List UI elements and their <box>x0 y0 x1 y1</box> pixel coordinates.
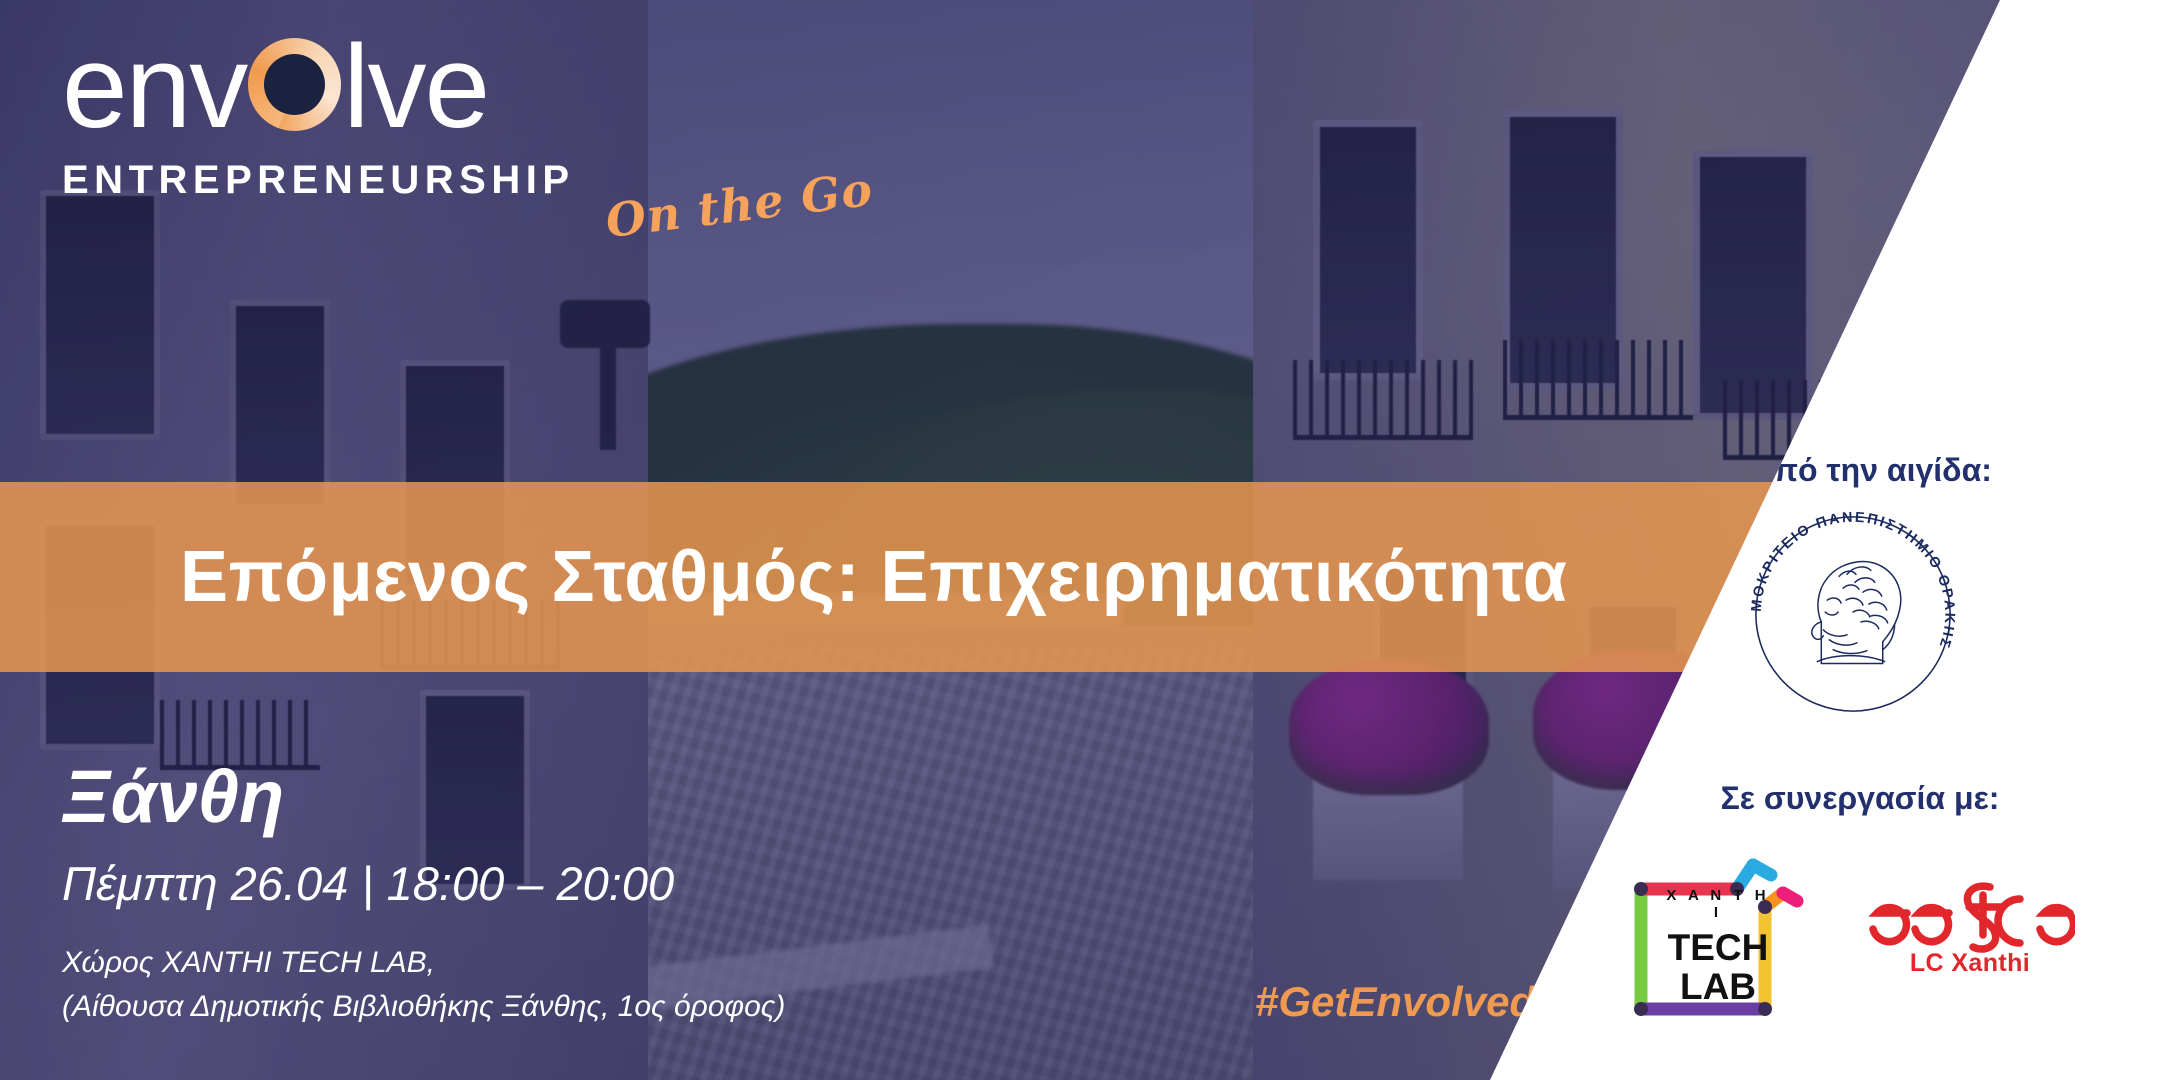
event-venue: Χώρος XANTHI TECH LAB, (Αίθουσα Δημοτική… <box>62 941 785 1028</box>
xanthi-tech-lab-logo: X A N T H I TECH LAB <box>1625 845 1811 1031</box>
tech-lab-line-2: TECH <box>1659 929 1777 968</box>
event-banner: env lve ENTREPRENEURSHIP On the Go Επόμε… <box>0 0 2160 1080</box>
headline-band: Επόμενος Σταθμός: Επιχειρηματικότητα <box>0 482 1800 672</box>
event-details: Ξάνθη Πέμπτη 26.04 | 18:00 – 20:00 Χώρος… <box>62 760 785 1028</box>
tech-lab-line-3: LAB <box>1659 968 1777 1007</box>
envolve-wordmark: env lve <box>62 28 873 146</box>
university-seal-icon: ΔΗΜΟΚΡΙΤΕΙΟ ΠΑΝΕΠΙΣΤΗΜΙΟ ΘΡΑΚΗΣ <box>1744 505 1962 723</box>
page-title: Επόμενος Σταθμός: Επιχειρηματικότητα <box>180 536 1568 618</box>
envolve-logo: env lve ENTREPRENEURSHIP On the Go <box>62 28 873 232</box>
partner-label: Σε συνεργασία με: <box>1600 780 2120 817</box>
entrepreneurship-label: ENTREPRENEURSHIP <box>62 158 575 203</box>
svg-text:ΔΗΜΟΚΡΙΤΕΙΟ ΠΑΝΕΠΙΣΤΗΜΙΟ ΘΡΑΚΗ: ΔΗΜΟΚΡΙΤΕΙΟ ΠΑΝΕΠΙΣΤΗΜΙΟ ΘΡΑΚΗΣ <box>1744 505 1957 651</box>
tech-lab-text: X A N T H I TECH LAB <box>1659 887 1777 1007</box>
logo-tagline: ENTREPRENEURSHIP On the Go <box>62 158 873 232</box>
event-hashtag: #GetEnvolved <box>1255 978 1535 1026</box>
eestec-logo: LC Xanthi <box>1865 873 2075 1003</box>
wordmark-suffix: lve <box>343 28 488 146</box>
tech-lab-line-1: X A N T H I <box>1659 887 1777 921</box>
circle-o-icon <box>248 38 341 131</box>
event-datetime: Πέμπτη 26.04 | 18:00 – 20:00 <box>62 856 785 911</box>
venue-line-1: Χώρος XANTHI TECH LAB, <box>62 946 435 979</box>
venue-line-2: (Αίθουσα Δημοτικής Βιβλιοθήκης Ξάνθης, 1… <box>62 990 785 1023</box>
democritus-bust-icon <box>1812 562 1901 664</box>
wordmark-prefix: env <box>62 28 246 146</box>
eestec-wordmark <box>1865 873 2075 955</box>
event-city: Ξάνθη <box>62 760 785 834</box>
partner-logos: X A N T H I TECH LAB <box>1570 838 2130 1038</box>
